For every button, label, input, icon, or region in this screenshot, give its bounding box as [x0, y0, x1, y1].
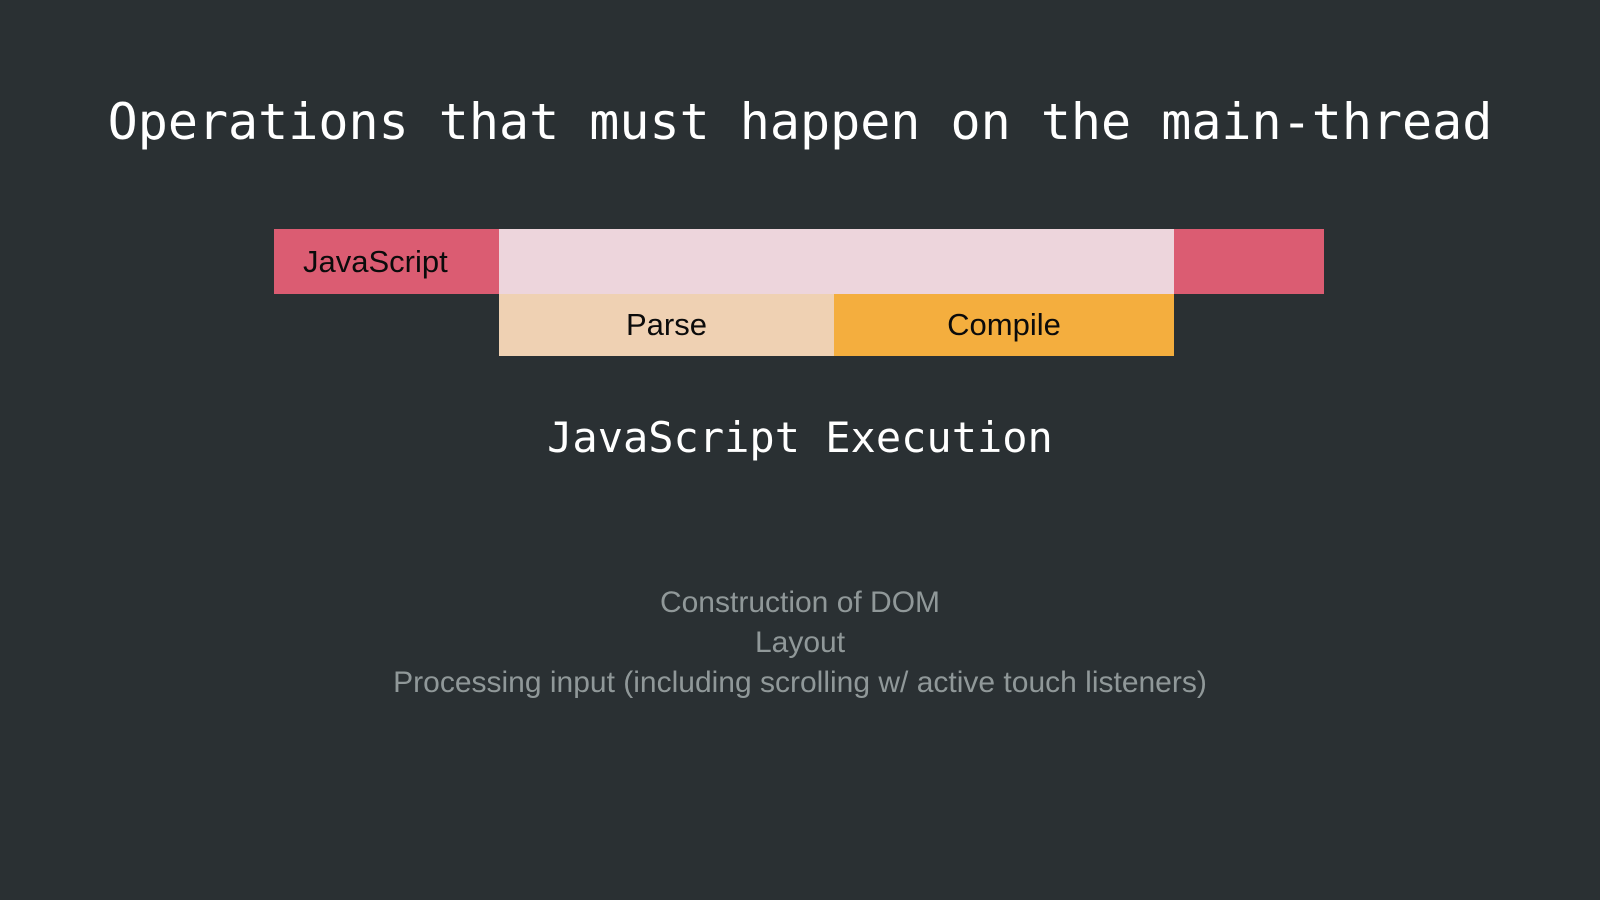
- diagram-caption: JavaScript Execution: [0, 410, 1600, 466]
- bar-compile-label: Compile: [947, 307, 1061, 343]
- slide-root: Operations that must happen on the main-…: [0, 0, 1600, 900]
- bar-parse: Parse: [499, 294, 834, 356]
- bar-parse-label: Parse: [626, 307, 707, 343]
- note-line-layout: Layout: [0, 623, 1600, 663]
- main-thread-notes-list: Construction of DOM Layout Processing in…: [0, 583, 1600, 703]
- note-line-construction-of-dom: Construction of DOM: [0, 583, 1600, 623]
- bar-javascript-label: JavaScript: [303, 244, 448, 280]
- bar-execution-window: [499, 229, 1174, 294]
- bar-compile: Compile: [834, 294, 1174, 356]
- note-line-processing-input: Processing input (including scrolling w/…: [0, 663, 1600, 703]
